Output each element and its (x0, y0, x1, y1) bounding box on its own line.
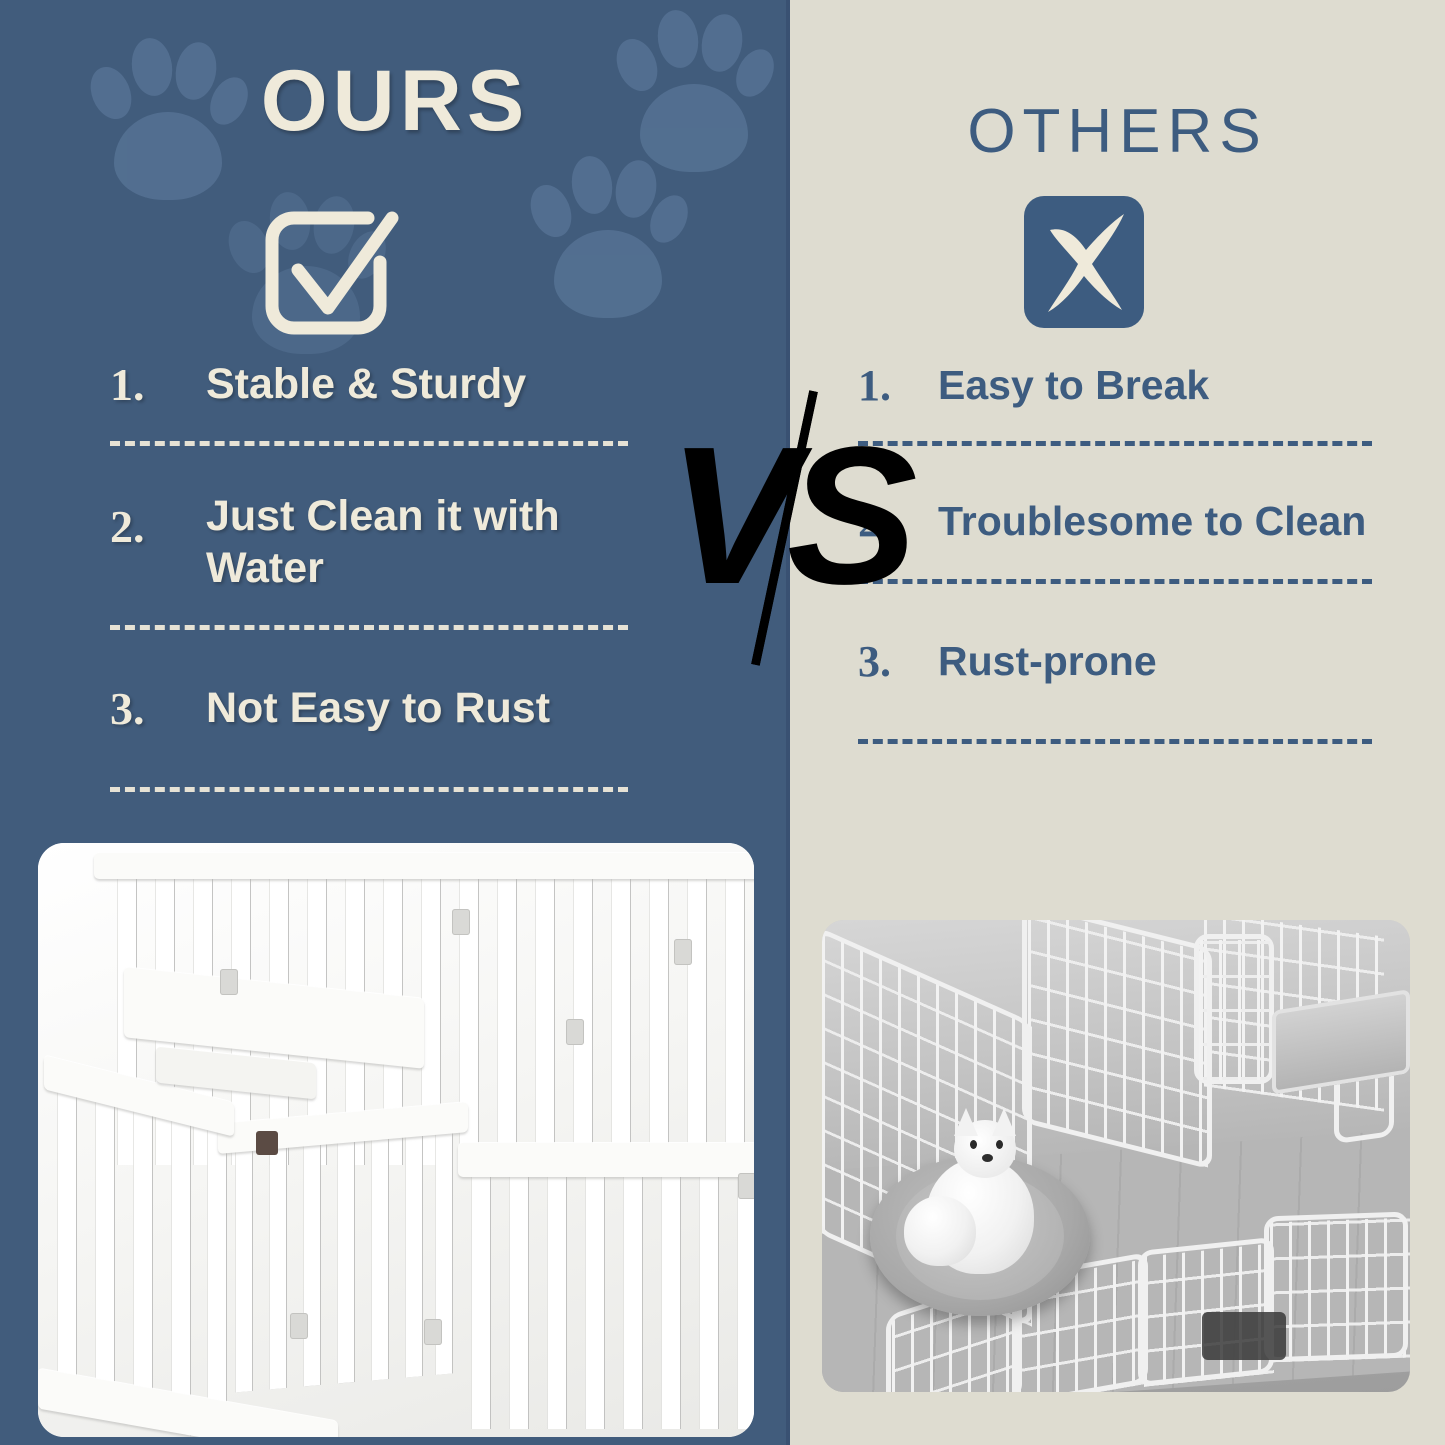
others-product-photo (822, 920, 1410, 1392)
ours-product-photo (38, 843, 754, 1437)
comparison-infographic: OURS 1. Stable & Sturdy 2. Just Clean it… (0, 0, 1445, 1445)
list-item-label: Stable & Sturdy (206, 358, 526, 410)
list-item-number: 1. (110, 358, 206, 411)
list-item-label: Not Easy to Rust (206, 682, 550, 734)
list-item: 1. Easy to Break (858, 360, 1383, 411)
ours-panel: OURS 1. Stable & Sturdy 2. Just Clean it… (0, 0, 790, 1445)
x-cross-icon (1020, 192, 1148, 332)
others-title: OTHERS (790, 96, 1445, 167)
list-item: 1. Stable & Sturdy (110, 358, 650, 411)
paw-print-icon (528, 152, 678, 322)
list-divider (110, 625, 628, 630)
ours-feature-list: 1. Stable & Sturdy 2. Just Clean it with… (110, 358, 650, 792)
list-item-label: Just Clean it with Water (206, 490, 626, 595)
list-item: 3. Rust-prone (858, 636, 1383, 687)
list-item-label: Rust-prone (938, 636, 1157, 686)
list-divider (110, 441, 628, 446)
list-item-number: 3. (110, 682, 206, 735)
list-divider (110, 787, 628, 792)
list-item-number: 1. (858, 360, 938, 411)
checkbox-check-icon (252, 196, 402, 346)
list-item-label: Easy to Break (938, 360, 1209, 410)
vs-badge: VS (668, 418, 908, 668)
list-item-number: 2. (110, 490, 206, 553)
panel-divider (786, 0, 790, 1445)
list-divider (858, 739, 1372, 744)
list-item: 3. Not Easy to Rust (110, 682, 650, 735)
others-feature-list: 1. Easy to Break 2. Troublesome to Clean… (858, 360, 1383, 744)
list-item: 2. Troublesome to Clean (858, 496, 1383, 547)
list-item: 2. Just Clean it with Water (110, 490, 650, 595)
ours-title: OURS (0, 52, 790, 151)
list-item-label: Troublesome to Clean (938, 496, 1366, 546)
